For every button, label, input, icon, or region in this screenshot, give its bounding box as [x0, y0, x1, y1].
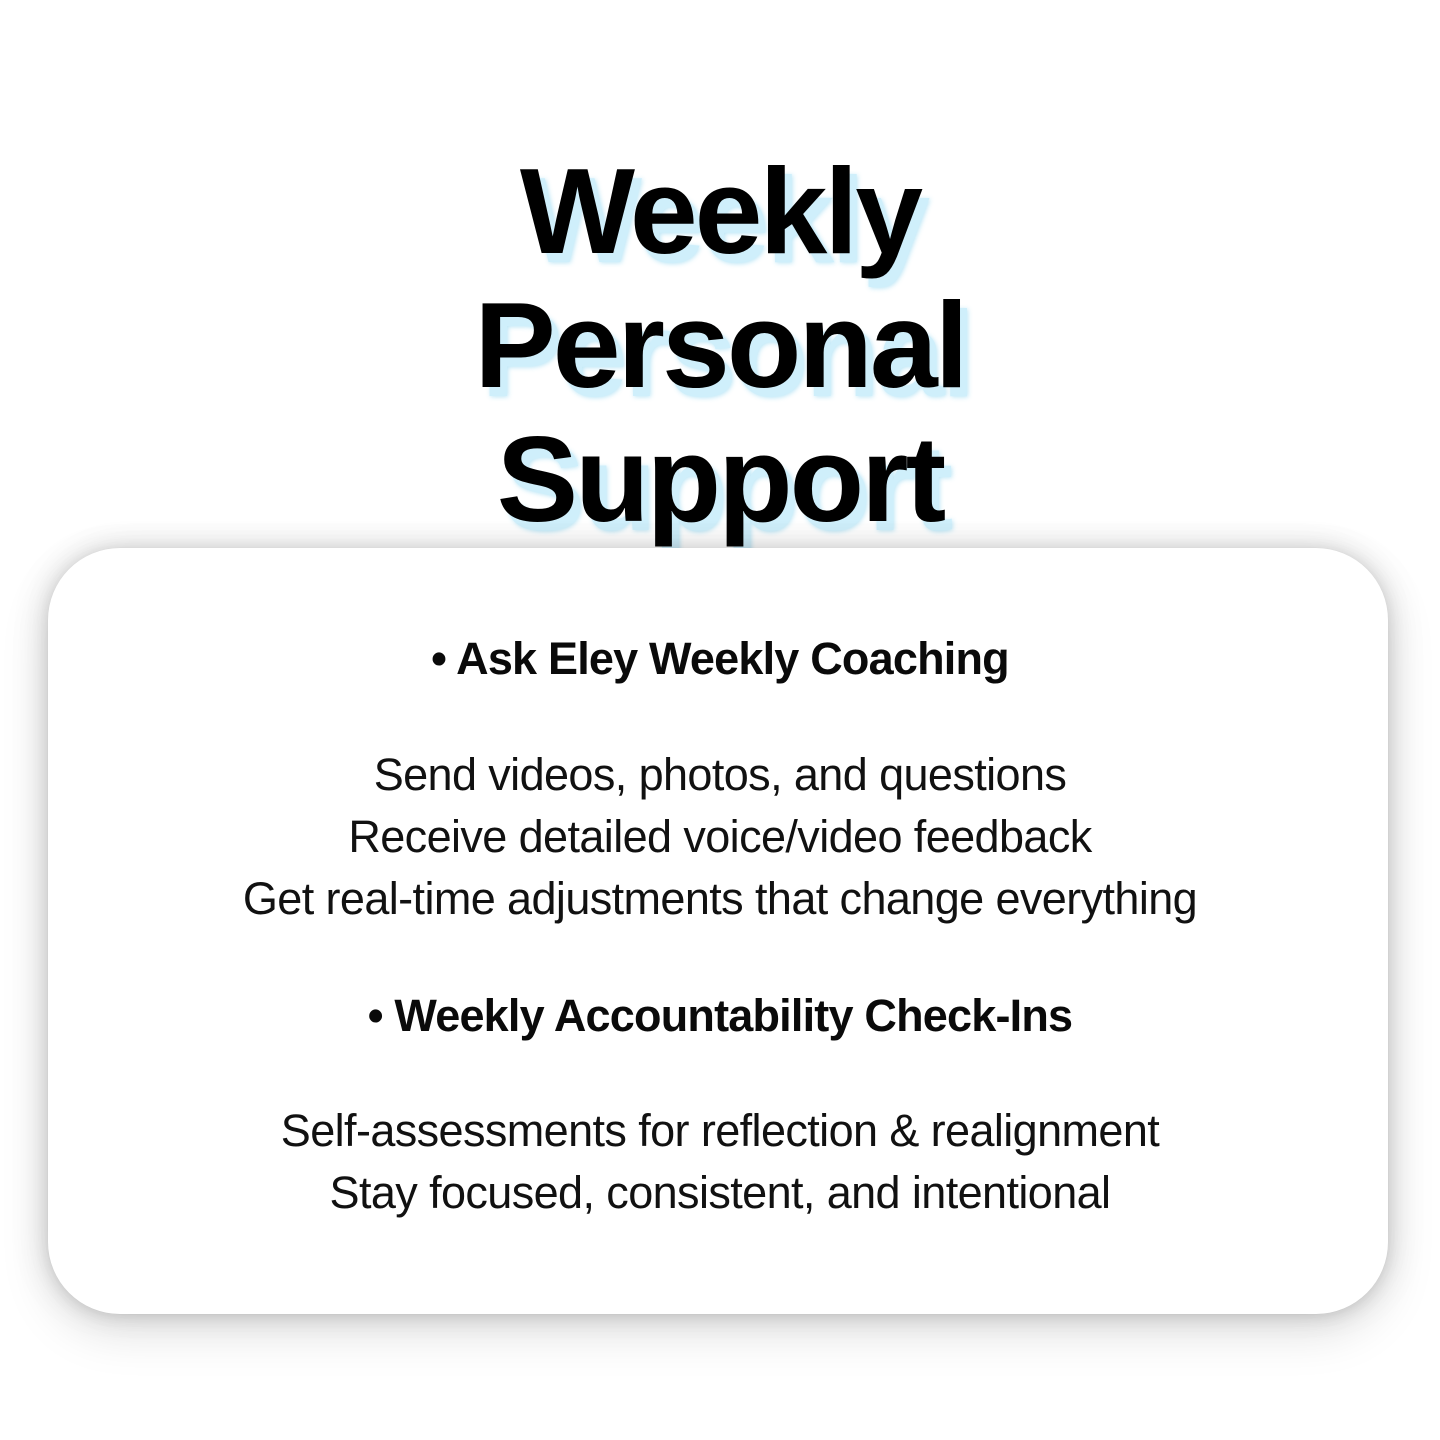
slide-canvas: Weekly Personal Support • Ask Eley Weekl…	[0, 0, 1440, 1440]
feature-body-line: Self-assessments for reflection & realig…	[0, 1100, 1440, 1162]
feature-body-line: Send videos, photos, and questions	[0, 744, 1440, 806]
feature-body-line: Receive detailed voice/video feedback	[0, 806, 1440, 868]
page-title-line-1: Weekly	[0, 144, 1440, 278]
page-title-line-3: Support	[0, 412, 1440, 546]
feature-heading-ask-eley-weekly-coaching: • Ask Eley Weekly Coaching	[0, 631, 1440, 687]
feature-body-line: Stay focused, consistent, and intentiona…	[0, 1162, 1440, 1224]
page-title: Weekly Personal Support	[0, 144, 1440, 546]
features-card: • Ask Eley Weekly Coaching Send videos, …	[48, 548, 1388, 1314]
feature-heading-weekly-accountability-check-ins: • Weekly Accountability Check-Ins	[0, 988, 1440, 1044]
page-title-line-2: Personal	[0, 278, 1440, 412]
feature-body-weekly-accountability-check-ins: Self-assessments for reflection & realig…	[0, 1100, 1440, 1224]
feature-body-line: Get real-time adjustments that change ev…	[0, 868, 1440, 930]
feature-body-ask-eley-weekly-coaching: Send videos, photos, and questions Recei…	[0, 744, 1440, 930]
